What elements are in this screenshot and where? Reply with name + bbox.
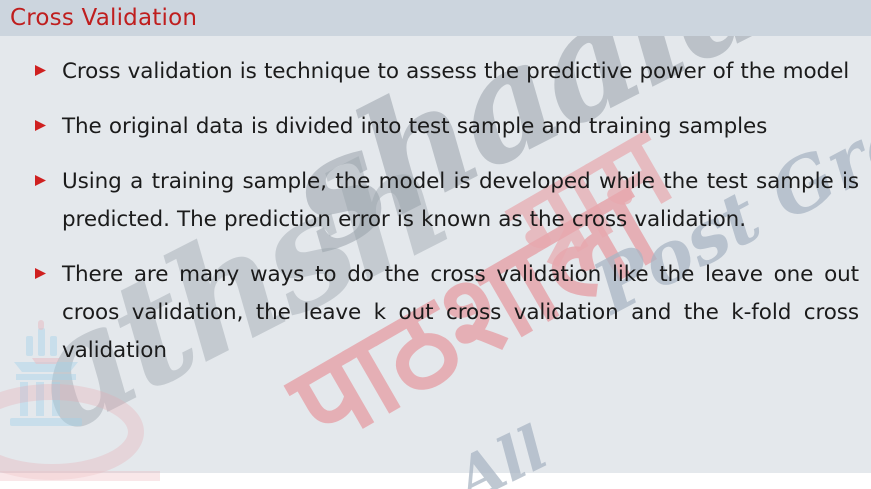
triangle-right-icon [34, 53, 62, 77]
bullet-item: The original data is divided into test s… [0, 108, 871, 146]
bullet-text: The original data is divided into test s… [62, 108, 859, 146]
bullet-item: Using a training sample, the model is de… [0, 163, 871, 239]
bullet-text: Cross validation is technique to assess … [62, 53, 859, 91]
slide-content: Cross validation is technique to assess … [0, 36, 871, 473]
bullet-text: Using a training sample, the model is de… [62, 163, 859, 239]
slide-header-bar: Cross Validation [0, 0, 871, 36]
presentation-slide: athsh पाठशाला ग्राम shaala Post Gra All [0, 0, 871, 489]
bullet-text: There are many ways to do the cross vali… [62, 256, 859, 370]
page-title: Cross Validation [10, 2, 197, 34]
triangle-right-icon [34, 256, 62, 280]
triangle-right-icon [34, 108, 62, 132]
slide-bottom-margin [0, 473, 871, 489]
triangle-right-icon [34, 163, 62, 187]
bullet-item: Cross validation is technique to assess … [0, 53, 871, 91]
bullet-item: There are many ways to do the cross vali… [0, 256, 871, 370]
